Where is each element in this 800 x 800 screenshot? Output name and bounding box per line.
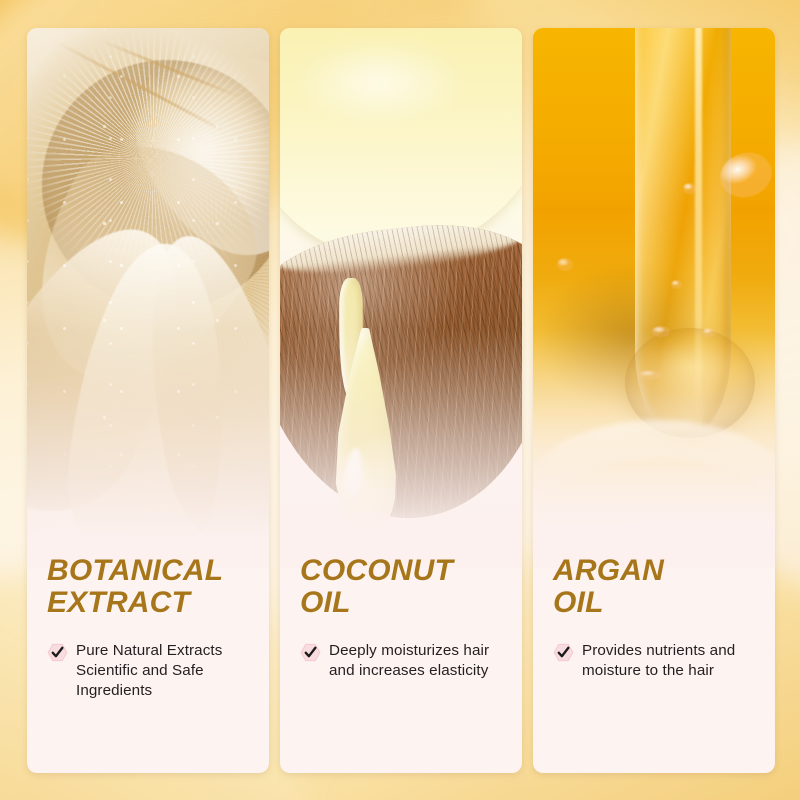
botanical-extract-image — [27, 28, 269, 568]
glass-bottle — [635, 28, 731, 436]
argan-oil-content: ARGAN OIL Provides nutrients and moistur… — [533, 543, 775, 773]
bottle-base — [625, 328, 755, 438]
card-title-coconut-oil: COCONUT OIL — [300, 543, 502, 619]
benefit-text: Provides nutrients and moisture to the h… — [582, 641, 755, 681]
oil-bubble — [557, 258, 573, 271]
card-title-botanical-extract: BOTANICAL EXTRACT — [47, 543, 249, 619]
botanical-extract-content: BOTANICAL EXTRACT Pure Natural Extracts … — [27, 543, 269, 773]
card-title-argan-oil: ARGAN OIL — [553, 543, 755, 619]
oil-bubble — [702, 328, 716, 337]
benefit-text: Pure Natural Extracts Scientific and Saf… — [76, 641, 249, 702]
coconut-shell — [280, 213, 522, 533]
bottle-edge-highlight — [695, 28, 702, 446]
coconut-husk-texture — [280, 213, 522, 533]
oil-bubble — [639, 370, 661, 380]
coconut-oil-image — [280, 28, 522, 568]
oil-surface-wave — [533, 420, 775, 510]
check-hexagon-icon — [300, 642, 321, 663]
oil-droplet — [333, 328, 397, 538]
coconut-oil-content: COCONUT OIL Deeply moisturizes hair and … — [280, 543, 522, 773]
oil-bubble — [671, 280, 682, 289]
ingredient-card-botanical-extract[interactable]: BOTANICAL EXTRACT Pure Natural Extracts … — [27, 28, 269, 773]
ingredient-cards-row: BOTANICAL EXTRACT Pure Natural Extracts … — [27, 28, 775, 773]
oil-highlight — [280, 28, 494, 142]
check-hexagon-icon — [47, 642, 68, 663]
benefit-item: Provides nutrients and moisture to the h… — [553, 641, 755, 681]
benefit-text: Deeply moisturizes hair and increases el… — [329, 641, 502, 681]
argan-oil-image — [533, 28, 775, 568]
ingredient-card-coconut-oil[interactable]: COCONUT OIL Deeply moisturizes hair and … — [280, 28, 522, 773]
benefit-item: Pure Natural Extracts Scientific and Saf… — [47, 641, 249, 702]
droplet-highlight — [338, 447, 365, 519]
oil-bubble — [652, 326, 670, 337]
ingredient-card-argan-oil[interactable]: ARGAN OIL Provides nutrients and moistur… — [533, 28, 775, 773]
check-hexagon-icon — [553, 642, 574, 663]
sparkle-overlay — [27, 28, 269, 568]
oil-bubble — [683, 183, 696, 194]
oil-drip-neck — [339, 278, 362, 398]
benefit-item: Deeply moisturizes hair and increases el… — [300, 641, 502, 681]
